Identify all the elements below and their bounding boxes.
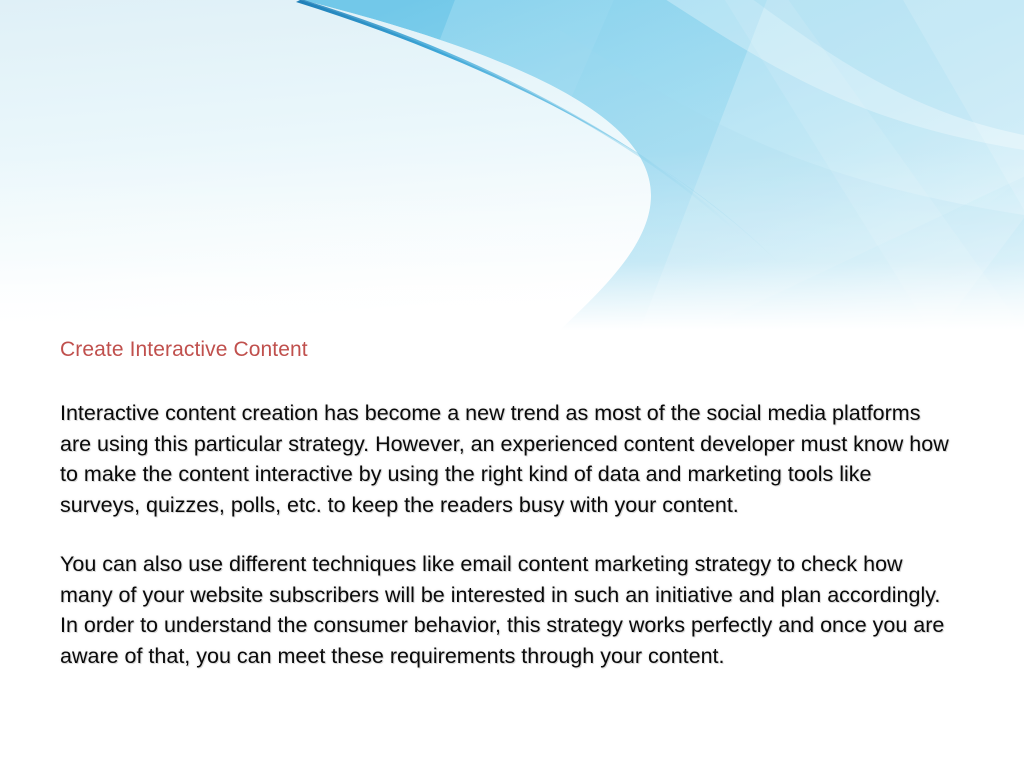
body-paragraph-2: You can also use different techniques li… <box>60 549 955 671</box>
slide-content: Create Interactive Content Interactive c… <box>60 336 960 671</box>
body-paragraph-1: Interactive content creation has become … <box>60 398 955 520</box>
header-decoration-banner <box>0 0 1024 330</box>
abstract-swoosh-graphic <box>0 0 1024 330</box>
page-title: Create Interactive Content <box>60 336 960 364</box>
presentation-slide: Create Interactive Content Interactive c… <box>0 0 1024 768</box>
